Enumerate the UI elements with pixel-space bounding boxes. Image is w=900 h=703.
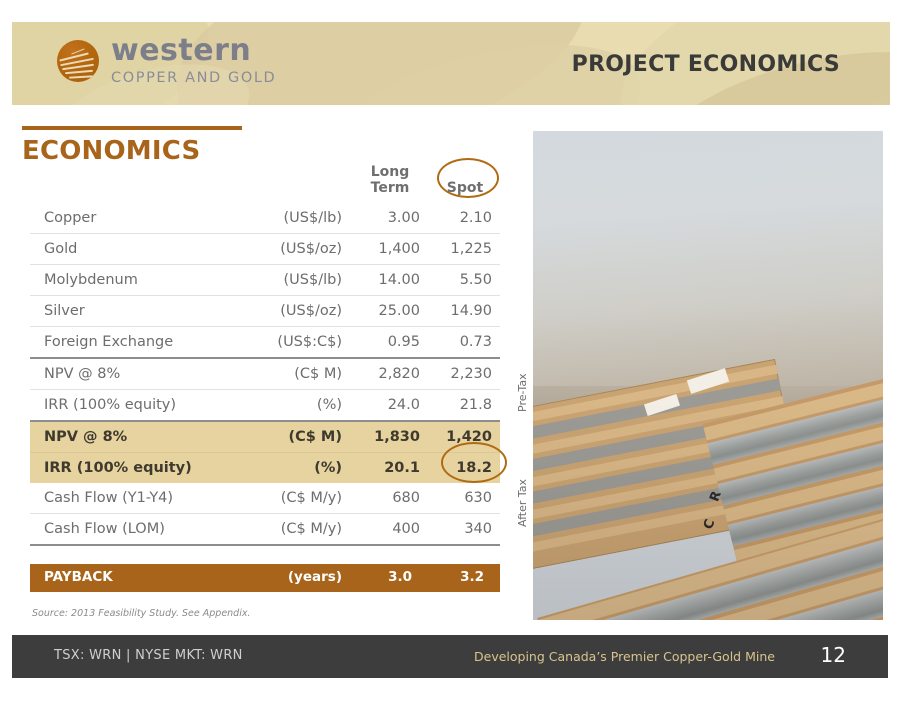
row-long-term-value: 1,400	[350, 234, 430, 265]
payback-row: PAYBACK (years) 3.0 3.2	[30, 564, 500, 592]
row-label: Cash Flow (Y1-Y4)	[30, 483, 235, 514]
row-label: Silver	[30, 296, 235, 327]
row-unit: (US$/lb)	[235, 265, 350, 296]
row-label: Copper	[30, 203, 235, 234]
footer-ticker: TSX: WRN | NYSE MKT: WRN	[54, 648, 243, 663]
row-unit: (%)	[235, 390, 350, 422]
row-unit: (%)	[235, 453, 350, 484]
table-row: Foreign Exchange(US$:C$)0.950.73	[30, 327, 500, 359]
section-title-rule	[22, 126, 242, 130]
header-banner: western COPPER AND GOLD PROJECT ECONOMIC…	[12, 22, 890, 105]
payback-unit: (years)	[227, 569, 342, 585]
payback-long-term: 3.0	[342, 569, 422, 585]
logo-company-tagline: COPPER AND GOLD	[111, 71, 276, 86]
page-title: PROJECT ECONOMICS	[572, 52, 840, 77]
long-term-line1: Long	[371, 164, 410, 180]
row-label: Foreign Exchange	[30, 327, 235, 359]
sunset-mountain-circle-icon	[57, 40, 99, 82]
row-long-term-value: 24.0	[350, 390, 430, 422]
table-row: IRR (100% equity)(%)24.021.8	[30, 390, 500, 422]
table-row: Cash Flow (Y1-Y4)(C$ M/y)680630	[30, 483, 500, 514]
table-row: Copper(US$/lb)3.002.10	[30, 203, 500, 234]
table-row: NPV @ 8%(C$ M)1,8301,420	[30, 421, 500, 453]
row-label: Molybdenum	[30, 265, 235, 296]
logo-company-name: western	[111, 36, 276, 66]
header-blank-unit	[235, 145, 350, 203]
column-header-long-term: Long Term	[350, 145, 430, 203]
footer-bar: TSX: WRN | NYSE MKT: WRN Developing Cana…	[12, 635, 888, 678]
row-long-term-value: 3.00	[350, 203, 430, 234]
page-number: 12	[821, 643, 846, 667]
row-spot-value: 340	[430, 514, 500, 546]
economics-table-wrap: Long Term Spot Copper(US$/lb)3.002.10Gol…	[30, 145, 500, 546]
row-unit: (C$ M)	[235, 421, 350, 453]
row-spot-value: 1,225	[430, 234, 500, 265]
photo-sky	[533, 131, 883, 406]
footer-tagline: Developing Canada’s Premier Copper-Gold …	[474, 649, 775, 664]
economics-table-body: Copper(US$/lb)3.002.10Gold(US$/oz)1,4001…	[30, 203, 500, 545]
row-spot-value: 2,230	[430, 358, 500, 390]
row-unit: (C$ M/y)	[235, 514, 350, 546]
row-spot-value: 0.73	[430, 327, 500, 359]
row-unit: (C$ M)	[235, 358, 350, 390]
table-row: IRR (100% equity)(%)20.118.2	[30, 453, 500, 484]
row-label: NPV @ 8%	[30, 421, 235, 453]
table-row: Cash Flow (LOM)(C$ M/y)400340	[30, 514, 500, 546]
row-spot-value: 14.90	[430, 296, 500, 327]
header-blank-label	[30, 145, 235, 203]
row-long-term-value: 14.00	[350, 265, 430, 296]
row-unit: (US$/lb)	[235, 203, 350, 234]
row-long-term-value: 2,820	[350, 358, 430, 390]
table-row: NPV @ 8%(C$ M)2,8202,230	[30, 358, 500, 390]
payback-label: PAYBACK	[44, 569, 113, 585]
payback-spot: 3.2	[422, 569, 492, 585]
row-long-term-value: 0.95	[350, 327, 430, 359]
row-spot-value: 2.10	[430, 203, 500, 234]
row-long-term-value: 680	[350, 483, 430, 514]
row-unit: (US$:C$)	[235, 327, 350, 359]
row-long-term-value: 400	[350, 514, 430, 546]
long-term-line2: Term	[371, 180, 410, 196]
slide: western COPPER AND GOLD PROJECT ECONOMIC…	[0, 0, 900, 703]
table-row: Gold(US$/oz)1,4001,225	[30, 234, 500, 265]
row-unit: (US$/oz)	[235, 234, 350, 265]
row-long-term-value: 25.00	[350, 296, 430, 327]
after-tax-group-label: After Tax	[516, 479, 529, 527]
row-label: NPV @ 8%	[30, 358, 235, 390]
row-label: Gold	[30, 234, 235, 265]
after-tax-irr-spot-highlight-ellipse	[441, 442, 507, 483]
source-note: Source: 2013 Feasibility Study. See Appe…	[32, 608, 251, 619]
row-label: Cash Flow (LOM)	[30, 514, 235, 546]
row-unit: (C$ M/y)	[235, 483, 350, 514]
table-header-row: Long Term Spot	[30, 145, 500, 203]
table-row: Molybdenum(US$/lb)14.005.50	[30, 265, 500, 296]
row-spot-value: 630	[430, 483, 500, 514]
row-spot-value: 21.8	[430, 390, 500, 422]
row-spot-value: 5.50	[430, 265, 500, 296]
spot-header-highlight-ellipse	[437, 158, 499, 198]
company-logo: western COPPER AND GOLD	[57, 36, 276, 86]
row-label: IRR (100% equity)	[30, 453, 235, 484]
row-long-term-value: 1,830	[350, 421, 430, 453]
drill-core-photo: R C	[533, 131, 883, 620]
row-long-term-value: 20.1	[350, 453, 430, 484]
economics-table: Long Term Spot Copper(US$/lb)3.002.10Gol…	[30, 145, 500, 546]
row-label: IRR (100% equity)	[30, 390, 235, 422]
row-unit: (US$/oz)	[235, 296, 350, 327]
pre-tax-group-label: Pre-Tax	[516, 373, 529, 412]
table-row: Silver(US$/oz)25.0014.90	[30, 296, 500, 327]
